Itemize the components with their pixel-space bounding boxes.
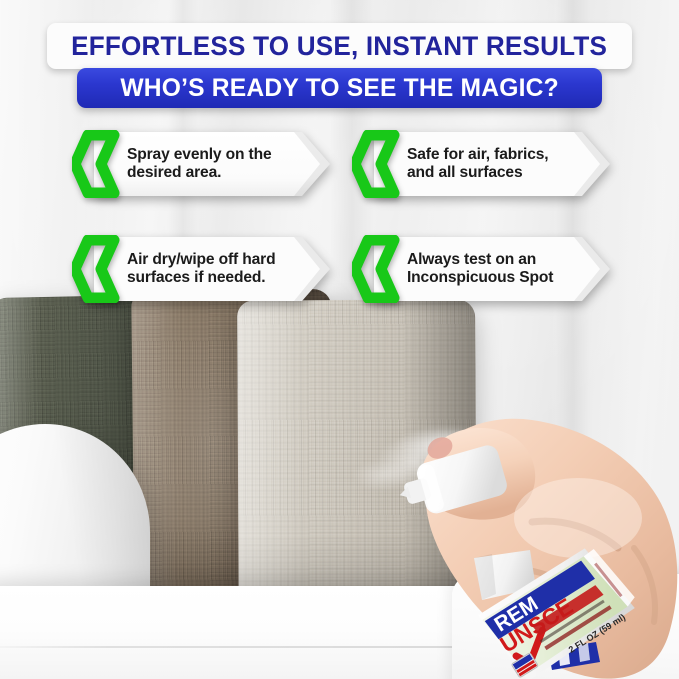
callout-spray-evenly: Spray evenly on the desired area. <box>72 128 330 200</box>
chevron-icon <box>352 235 400 303</box>
callout-line-1: Always test on an <box>407 251 589 269</box>
callout-line-2: desired area. <box>127 164 303 182</box>
callout-text: Spray evenly on the desired area. <box>127 134 303 194</box>
chevron-icon <box>72 130 120 198</box>
callout-line-1: Spray evenly on the <box>127 146 303 164</box>
callout-line-1: Air dry/wipe off hard <box>127 251 303 269</box>
headline-line-2: WHO’S READY TO SEE THE MAGIC? <box>120 74 559 103</box>
callout-line-2: and all surfaces <box>407 164 589 182</box>
callout-line-2: surfaces if needed. <box>127 269 303 287</box>
chevron-icon <box>72 235 120 303</box>
callout-text: Air dry/wipe off hard surfaces if needed… <box>127 239 303 299</box>
product-infographic: REM UNSCE 2 FL OZ (59 ml) <box>0 0 679 679</box>
callout-air-dry-wipe: Air dry/wipe off hard surfaces if needed… <box>72 233 330 305</box>
headline-banner-secondary: WHO’S READY TO SEE THE MAGIC? <box>77 68 602 108</box>
callout-safe-for-all: Safe for air, fabrics, and all surfaces <box>352 128 610 200</box>
callout-line-1: Safe for air, fabrics, <box>407 146 589 164</box>
headline-banner-primary: EFFORTLESS TO USE, INSTANT RESULTS <box>47 23 632 69</box>
chevron-icon <box>352 130 400 198</box>
callout-text: Safe for air, fabrics, and all surfaces <box>407 134 589 194</box>
callout-text: Always test on an Inconspicuous Spot <box>407 239 589 299</box>
callout-line-2: Inconspicuous Spot <box>407 269 589 287</box>
callout-test-spot: Always test on an Inconspicuous Spot <box>352 233 610 305</box>
hand-holding-spray-bottle: REM UNSCE 2 FL OZ (59 ml) <box>382 372 679 679</box>
headline-line-1: EFFORTLESS TO USE, INSTANT RESULTS <box>71 31 607 62</box>
